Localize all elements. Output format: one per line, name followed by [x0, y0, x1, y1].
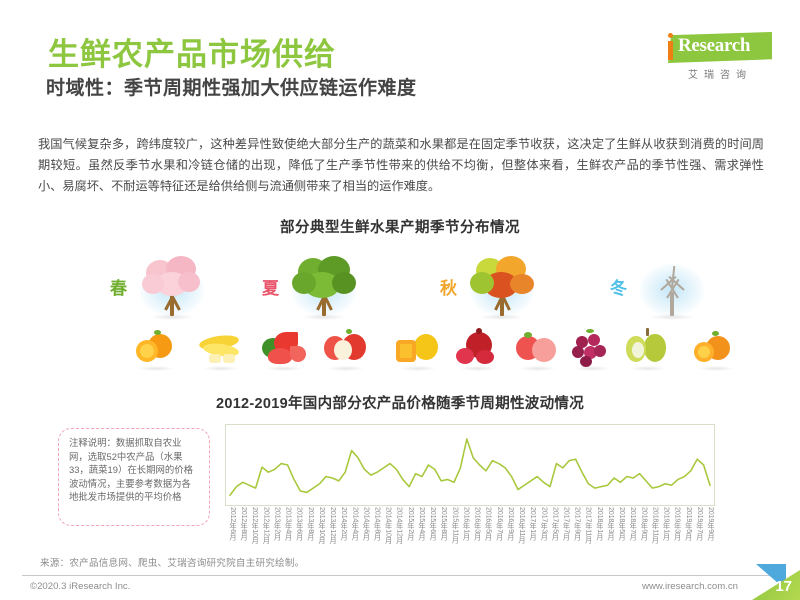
season-cell-autumn: 秋: [440, 252, 570, 324]
x-axis-label: 2019年3月: [673, 507, 683, 540]
orange-fruit-icon: [130, 326, 182, 372]
watermelon-fruit-icon: [258, 326, 310, 372]
lead-paragraph: 我国气候复杂多，跨纬度较广，这种差异性致使绝大部分生产的蔬菜和水果都是在固定季节…: [38, 134, 764, 197]
x-axis-label: 2019年5月: [684, 507, 694, 540]
x-axis-label: 2013年10月: [317, 507, 327, 544]
x-axis-label: 2013年8月: [306, 507, 316, 540]
x-axis-label: 2016年5月: [484, 507, 494, 540]
x-axis-label: 2018年7月: [628, 507, 638, 540]
x-axis-label: 2018年1月: [595, 507, 605, 540]
page-title: 生鲜农产品市场供给: [48, 38, 336, 72]
x-axis-label: 2012年6月: [228, 507, 238, 540]
page-number: 17: [775, 578, 792, 595]
x-axis-label: 2014年12月: [395, 507, 405, 544]
apple-fruit-icon: [320, 326, 372, 372]
season-cell-spring: 春: [110, 252, 240, 324]
season-section-title: 部分典型生鲜水果产期季节分布情况: [0, 216, 800, 237]
x-axis-label: 2017年11月: [584, 507, 594, 543]
x-axis-label: 2017年5月: [550, 507, 560, 540]
banana-fruit-icon: [195, 326, 247, 372]
chart-svg: [226, 425, 714, 505]
logo-wordmark: Research: [678, 35, 750, 57]
x-axis-label: 2013年12月: [328, 507, 338, 544]
season-cell-summer: 夏: [262, 252, 392, 324]
blossom-tree-icon: [136, 252, 208, 324]
page-corner-decoration: 17: [744, 564, 800, 600]
bare-tree-icon: [636, 252, 708, 324]
x-axis-label: 2016年7月: [495, 507, 505, 540]
logo-i-stem-icon: [668, 41, 673, 60]
x-axis-label: 2018年9月: [639, 507, 649, 540]
season-cell-winter: 冬: [610, 252, 740, 324]
x-axis-label: 2016年1月: [461, 507, 471, 540]
iresearch-logo: Research 艾瑞咨询: [660, 32, 772, 84]
season-row: 春 夏: [0, 252, 800, 324]
peach-fruit-icon: [512, 326, 564, 372]
slide-page: 生鲜农产品市场供给 时域性：季节周期性强加大供应链运作难度 Research 艾…: [0, 0, 800, 600]
chart-note-text: 注释说明：数据抓取自农业网，选取52中农产品（水果33，蔬菜19）在长期网的价格…: [69, 436, 200, 504]
x-axis-label: 2014年6月: [361, 507, 371, 540]
pear-fruit-icon: [622, 326, 674, 372]
x-axis-label: 2015年8月: [439, 507, 449, 540]
x-axis-label: 2015年4月: [417, 507, 427, 540]
x-axis-label: 2015年2月: [406, 507, 416, 540]
x-axis-label: 2015年6月: [428, 507, 438, 540]
logo-mark: Research: [660, 32, 772, 65]
x-axis-label: 2013年4月: [284, 507, 294, 540]
page-subtitle: 时域性：季节周期性强加大供应链运作难度: [46, 78, 417, 101]
x-axis-label: 2017年9月: [573, 507, 583, 540]
x-axis-label: 2019年7月: [695, 507, 705, 540]
x-axis-label: 2012年8月: [239, 507, 249, 540]
mango-fruit-icon: [392, 326, 444, 372]
price-line-series: [230, 439, 710, 495]
x-axis-label: 2017年7月: [561, 507, 571, 540]
x-axis-label: 2014年2月: [339, 507, 349, 540]
x-axis-label: 2018年3月: [606, 507, 616, 540]
logo-chinese-name: 艾瑞咨询: [670, 66, 770, 81]
footer-copyright: ©2020.3 iResearch Inc.: [30, 581, 130, 592]
fruit-row: [0, 326, 800, 372]
green-tree-icon: [288, 252, 360, 324]
tangerine-fruit-icon: [690, 326, 742, 372]
x-axis-label: 2018年11月: [650, 507, 660, 543]
season-label-autumn: 秋: [440, 274, 457, 299]
season-label-summer: 夏: [262, 274, 279, 299]
x-axis-label: 2016年11月: [517, 507, 527, 543]
x-axis-label: 2018年5月: [617, 507, 627, 540]
chart-title: 2012-2019年国内部分农产品价格随季节周期性波动情况: [0, 392, 800, 413]
x-axis-label: 2013年2月: [272, 507, 282, 540]
x-axis-label: 2014年4月: [350, 507, 360, 540]
x-axis-label: 2012年12月: [261, 507, 271, 544]
season-label-winter: 冬: [610, 274, 627, 299]
x-axis-label: 2013年6月: [295, 507, 305, 540]
pomegranate-fruit-icon: [452, 326, 504, 372]
autumn-tree-icon: [466, 252, 538, 324]
x-axis-label: 2014年8月: [373, 507, 383, 540]
source-note: 来源：农产品信息网、爬虫、艾瑞咨询研究院自主研究绘制。: [40, 555, 304, 569]
chart-note-box: 注释说明：数据抓取自农业网，选取52中农产品（水果33，蔬菜19）在长期网的价格…: [58, 428, 210, 526]
footer-divider: [22, 575, 778, 576]
x-axis-label: 2019年9月: [706, 507, 716, 540]
logo-i-dot-icon: [668, 33, 673, 38]
footer-website: www.iresearch.com.cn: [642, 581, 738, 592]
x-axis-label: 2017年1月: [528, 507, 538, 540]
price-fluctuation-chart: [225, 424, 715, 506]
x-axis-label: 2017年3月: [539, 507, 549, 540]
x-axis-label: 2015年11月: [450, 507, 460, 543]
x-axis-label: 2012年10月: [250, 507, 260, 544]
grapes-fruit-icon: [566, 326, 618, 372]
season-label-spring: 春: [110, 274, 127, 299]
x-axis-label: 2019年1月: [662, 507, 672, 540]
x-axis-label: 2016年9月: [506, 507, 516, 540]
chart-x-axis-labels: 2012年6月2012年8月2012年10月2012年12月2013年2月201…: [225, 507, 715, 555]
x-axis-label: 2014年10月: [384, 507, 394, 544]
x-axis-label: 2016年3月: [473, 507, 483, 540]
